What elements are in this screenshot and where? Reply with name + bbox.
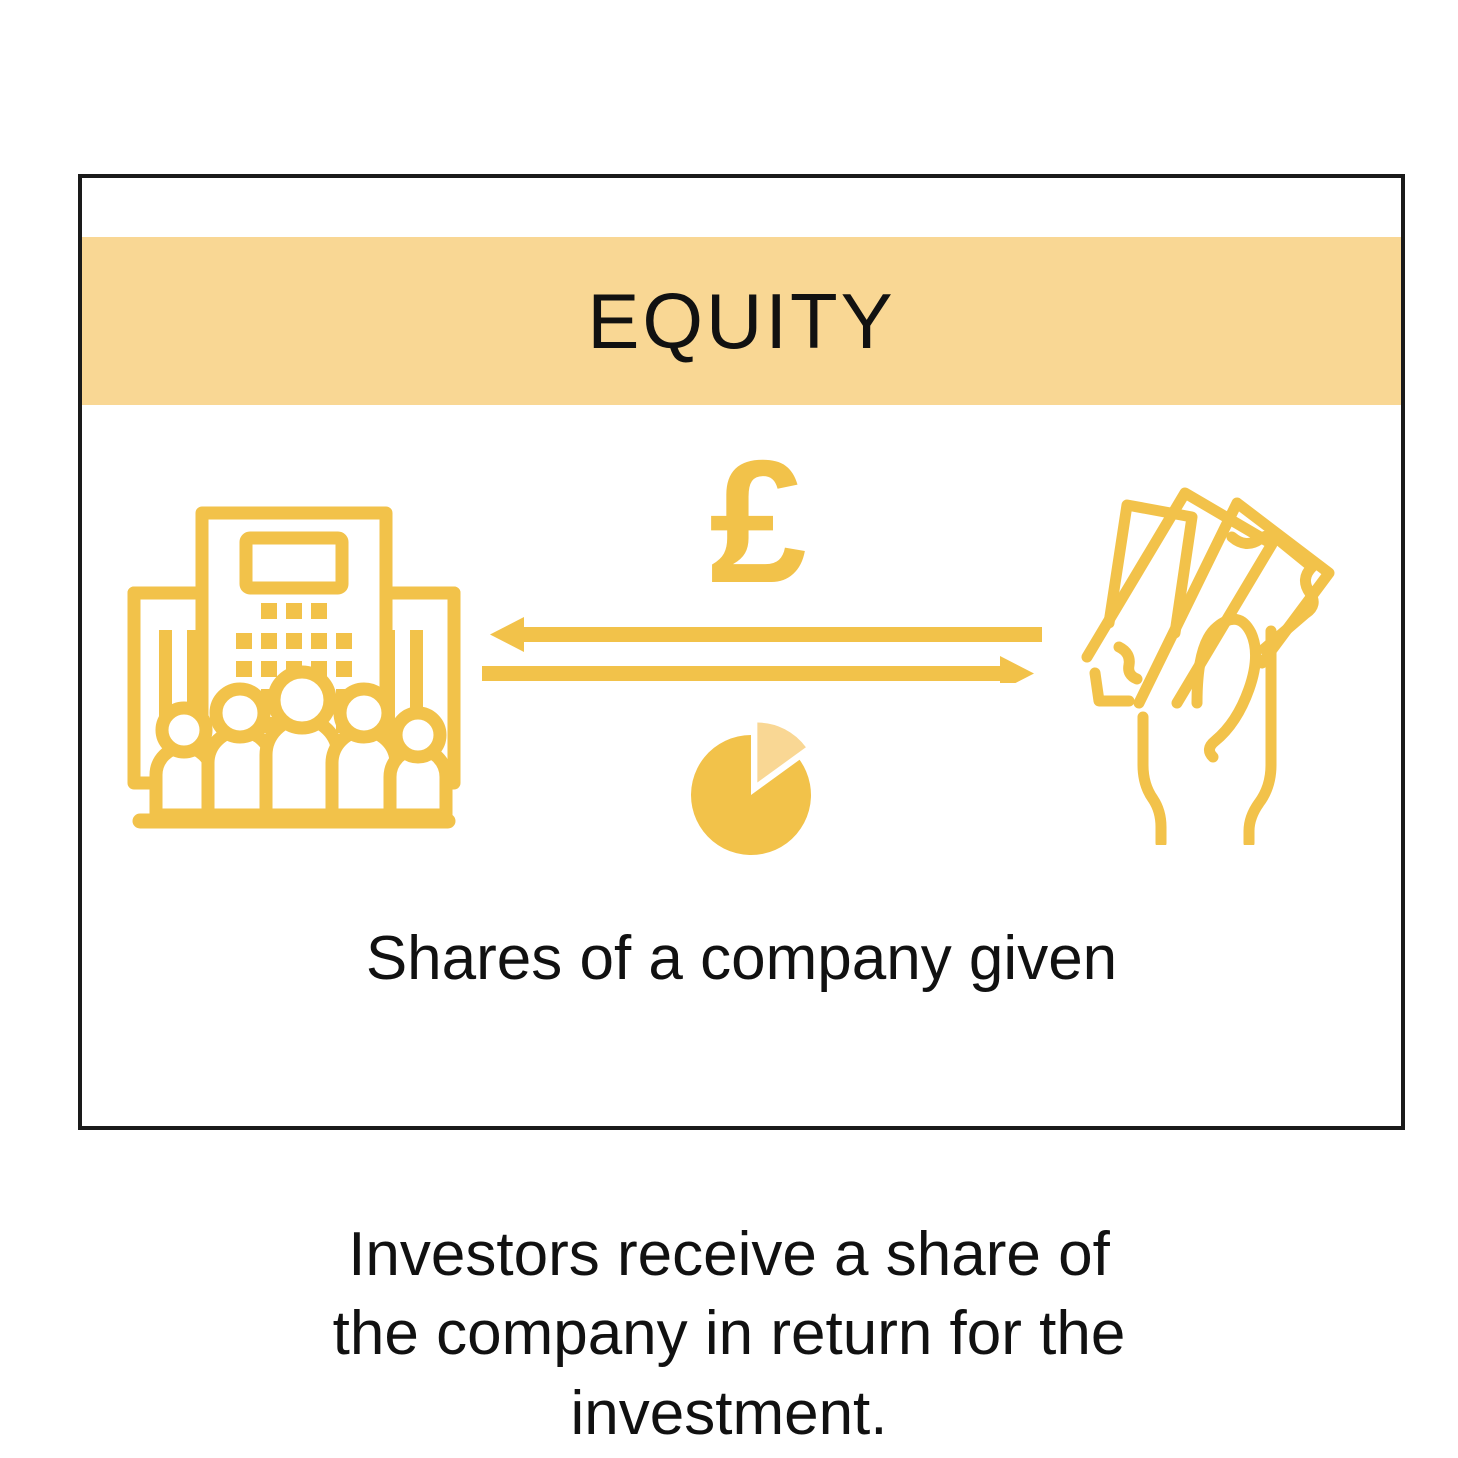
- arrow-left-icon: [490, 617, 1042, 652]
- exchange-arrows: [482, 603, 1042, 683]
- exchange-center-stack: £: [462, 425, 1052, 895]
- card-title-banner: EQUITY: [82, 237, 1401, 405]
- description-text: Investors receive a share of the company…: [180, 1215, 1278, 1453]
- page-title: EQUITY: [587, 282, 895, 360]
- illustration-area: £: [82, 405, 1401, 905]
- company-building-with-people-icon: [124, 485, 464, 835]
- ownership-pie-chart: [462, 713, 1052, 873]
- card-caption: Shares of a company given: [82, 923, 1401, 994]
- pound-currency-icon: £: [462, 435, 1052, 610]
- hand-holding-banknotes-icon: [1057, 465, 1357, 845]
- description-line-1: Investors receive a share of: [180, 1215, 1278, 1294]
- equity-card: EQUITY: [78, 174, 1405, 1130]
- description-line-3: investment.: [180, 1374, 1278, 1453]
- description-line-2: the company in return for the: [180, 1294, 1278, 1373]
- arrow-right-icon: [482, 656, 1034, 683]
